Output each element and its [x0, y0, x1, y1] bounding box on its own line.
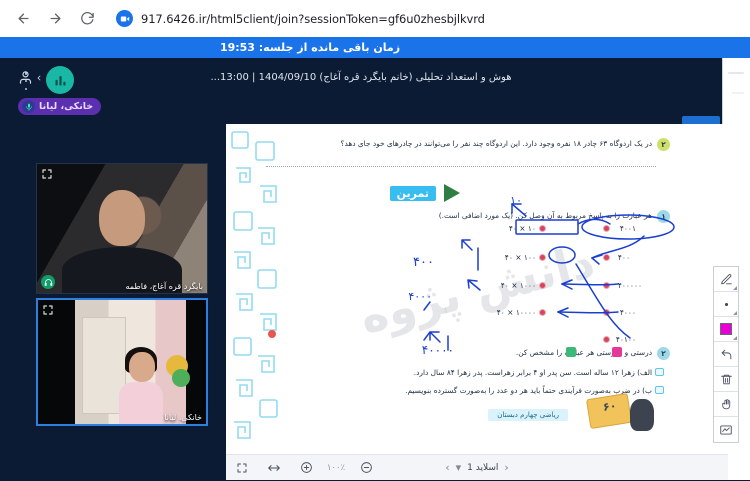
zoom-out-icon[interactable] — [350, 455, 382, 481]
presentation-area: دانش پژوه ۲ در یک اردوگاه ۶۳ چادر ۱۸ نفر… — [226, 124, 728, 454]
expand-icon[interactable] — [42, 304, 54, 316]
session-timer-text: زمان باقی مانده از جلسه: 19:53 — [220, 41, 400, 54]
true-false-item: ب) در ضرب به‌صورت فرآیندی حتماً باید هر … — [405, 386, 652, 395]
presentation-bottom-bar: ۱۰۰٪ ‹ اسلاید 1 ▾ › — [226, 454, 728, 480]
answer-right: ۴۰۰ — [618, 253, 630, 262]
svg-text:۱۰: ۱۰ — [510, 194, 522, 207]
match-bullet[interactable] — [539, 282, 546, 289]
expand-icon[interactable] — [41, 168, 53, 180]
whiteboard-icon[interactable] — [714, 417, 738, 442]
page-number: ۶۰ — [602, 399, 617, 414]
chevron-down-icon[interactable]: ▾ — [456, 461, 462, 474]
fullscreen-icon[interactable] — [226, 455, 258, 481]
zoom-level: ۱۰۰٪ — [322, 463, 350, 473]
match-bullet[interactable] — [539, 225, 546, 232]
question-text: درستی و نادرستی هر عبارت را مشخص کن. — [516, 348, 652, 357]
undo-icon[interactable] — [714, 342, 738, 367]
equation-left: ۴۰ × ۱۰۰۰۰ — [497, 308, 536, 317]
slide-navigation: ‹ اسلاید 1 ▾ › — [445, 461, 509, 474]
chevron-previous-icon[interactable]: ‹ — [504, 461, 508, 474]
app-top-bar: هوش و استعداد تحلیلی (خانم بایگرد قره آغ… — [0, 58, 722, 102]
match-bullet[interactable] — [539, 309, 546, 316]
match-bullet[interactable] — [603, 225, 610, 232]
match-bullet[interactable] — [603, 309, 610, 316]
webcam-tile[interactable]: خانکی، لیانا — [36, 298, 208, 426]
check-mark-icon — [566, 347, 576, 357]
match-bullet[interactable] — [603, 254, 610, 261]
microphone-icon[interactable] — [22, 100, 35, 113]
match-bullet[interactable] — [603, 336, 610, 343]
slide-canvas[interactable]: دانش پژوه ۲ در یک اردوگاه ۶۳ چادر ۱۸ نفر… — [226, 124, 728, 454]
side-panel-placeholder-line-2 — [732, 92, 744, 94]
svg-text:۴۰۰۰: ۴۰۰۰ — [408, 290, 432, 303]
side-panel-placeholder-line — [728, 72, 744, 74]
page-decoration — [226, 124, 290, 454]
webcam-tile[interactable]: بایگرد قره آغاج، فاطمه — [36, 163, 208, 294]
browser-chrome: 917.6426.ir/html5client/join?sessionToke… — [0, 0, 750, 37]
question-badge: ۲ — [657, 138, 670, 151]
section-arrow-icon — [444, 184, 460, 202]
equation-left: ۴۰ × ۱۰۰ — [505, 253, 536, 262]
divider-dotted — [266, 166, 656, 167]
chevron-left-icon — [35, 74, 43, 82]
thickness-icon[interactable] — [714, 292, 738, 317]
question-badge: ۲ — [657, 347, 670, 360]
local-user-name: خانکی، لیانا — [39, 101, 93, 112]
answer-right: ۴۰۰۰۰۰ — [618, 281, 642, 290]
slide-label: اسلاید 1 — [467, 463, 498, 473]
headset-icon — [41, 275, 55, 289]
forward-icon[interactable] — [42, 6, 68, 32]
color-swatch-icon[interactable] — [714, 317, 738, 342]
zoom-in-icon[interactable] — [290, 455, 322, 481]
bbb-app: هوش و استعداد تحلیلی (خانم بایگرد قره آغ… — [0, 58, 750, 480]
equation-left: ۴۰ × ۱۰ — [509, 224, 536, 233]
address-bar[interactable]: 917.6426.ir/html5client/join?sessionToke… — [108, 6, 736, 32]
meeting-title: هوش و استعداد تحلیلی (خانم بایگرد قره آغ… — [0, 72, 722, 83]
svg-text:۴۰۰: ۴۰۰ — [413, 255, 434, 270]
webcam-label: بایگرد قره آغاج، فاطمه — [126, 282, 203, 291]
chevron-next-icon[interactable]: › — [445, 461, 449, 474]
book-label: ریاضی چهارم دبستان — [488, 409, 568, 421]
back-icon[interactable] — [10, 6, 36, 32]
match-bullet[interactable] — [539, 254, 546, 261]
bbb-favicon — [116, 10, 133, 27]
fit-to-width-icon[interactable] — [258, 455, 290, 481]
answer-box[interactable] — [655, 386, 664, 394]
user-list-icon — [18, 70, 33, 85]
match-bullet[interactable] — [603, 282, 610, 289]
session-timer-banner: زمان باقی مانده از جلسه: 19:53 — [0, 37, 750, 58]
true-false-item: الف) زهرا ۱۲ ساله است. سن پدر او ۴ برابر… — [414, 368, 652, 377]
svg-text:۴۰۰۰۰: ۴۰۰۰۰ — [422, 343, 454, 357]
local-user-chip[interactable]: خانکی، لیانا — [18, 98, 101, 115]
url-text: 917.6426.ir/html5client/join?sessionToke… — [141, 12, 485, 26]
presenter-cursor — [268, 330, 276, 338]
hand-pointer-icon[interactable] — [714, 392, 738, 417]
drawing-toolbar — [713, 266, 739, 443]
webcam-label: خانکی، لیانا — [164, 413, 202, 422]
users-toggle-button[interactable] — [18, 70, 43, 85]
answer-right: ۴۰۰۰ — [620, 308, 636, 317]
reload-icon[interactable] — [74, 6, 100, 32]
question-text: هر عبارت را به پاسخ مربوط به آن وصل کن. … — [439, 211, 652, 220]
answer-right: ۴۰۰۱ — [620, 224, 636, 233]
answer-box[interactable] — [655, 368, 664, 376]
section-title: تمرین — [390, 186, 436, 201]
question-badge: ۱ — [657, 210, 670, 223]
equation-left: ۴۰ × ۱۰۰۰ — [501, 281, 536, 290]
trash-icon[interactable] — [714, 367, 738, 392]
answer-right: ۴۰۱۰۰ — [616, 335, 636, 344]
pencil-icon[interactable] — [714, 267, 738, 292]
cat-illustration — [630, 399, 654, 431]
question-text: در یک اردوگاه ۶۳ چادر ۱۸ نفره وجود دارد.… — [272, 139, 652, 148]
cross-mark-icon — [612, 347, 622, 357]
